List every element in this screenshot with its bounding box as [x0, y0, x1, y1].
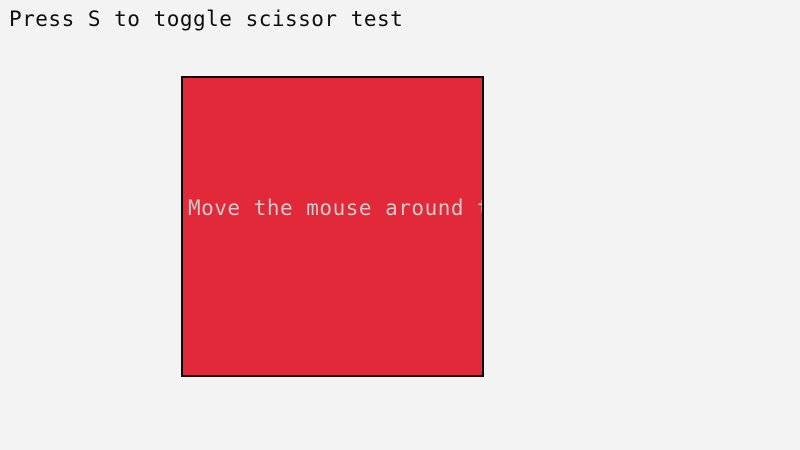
- scissor-toggle-hint: Press S to toggle scissor test: [9, 6, 403, 32]
- app-canvas[interactable]: Press S to toggle scissor test Move the …: [0, 0, 800, 450]
- scissor-clipped-message: Move the mouse around to r: [188, 196, 484, 220]
- scissor-rectangle[interactable]: Move the mouse around to r: [181, 76, 484, 377]
